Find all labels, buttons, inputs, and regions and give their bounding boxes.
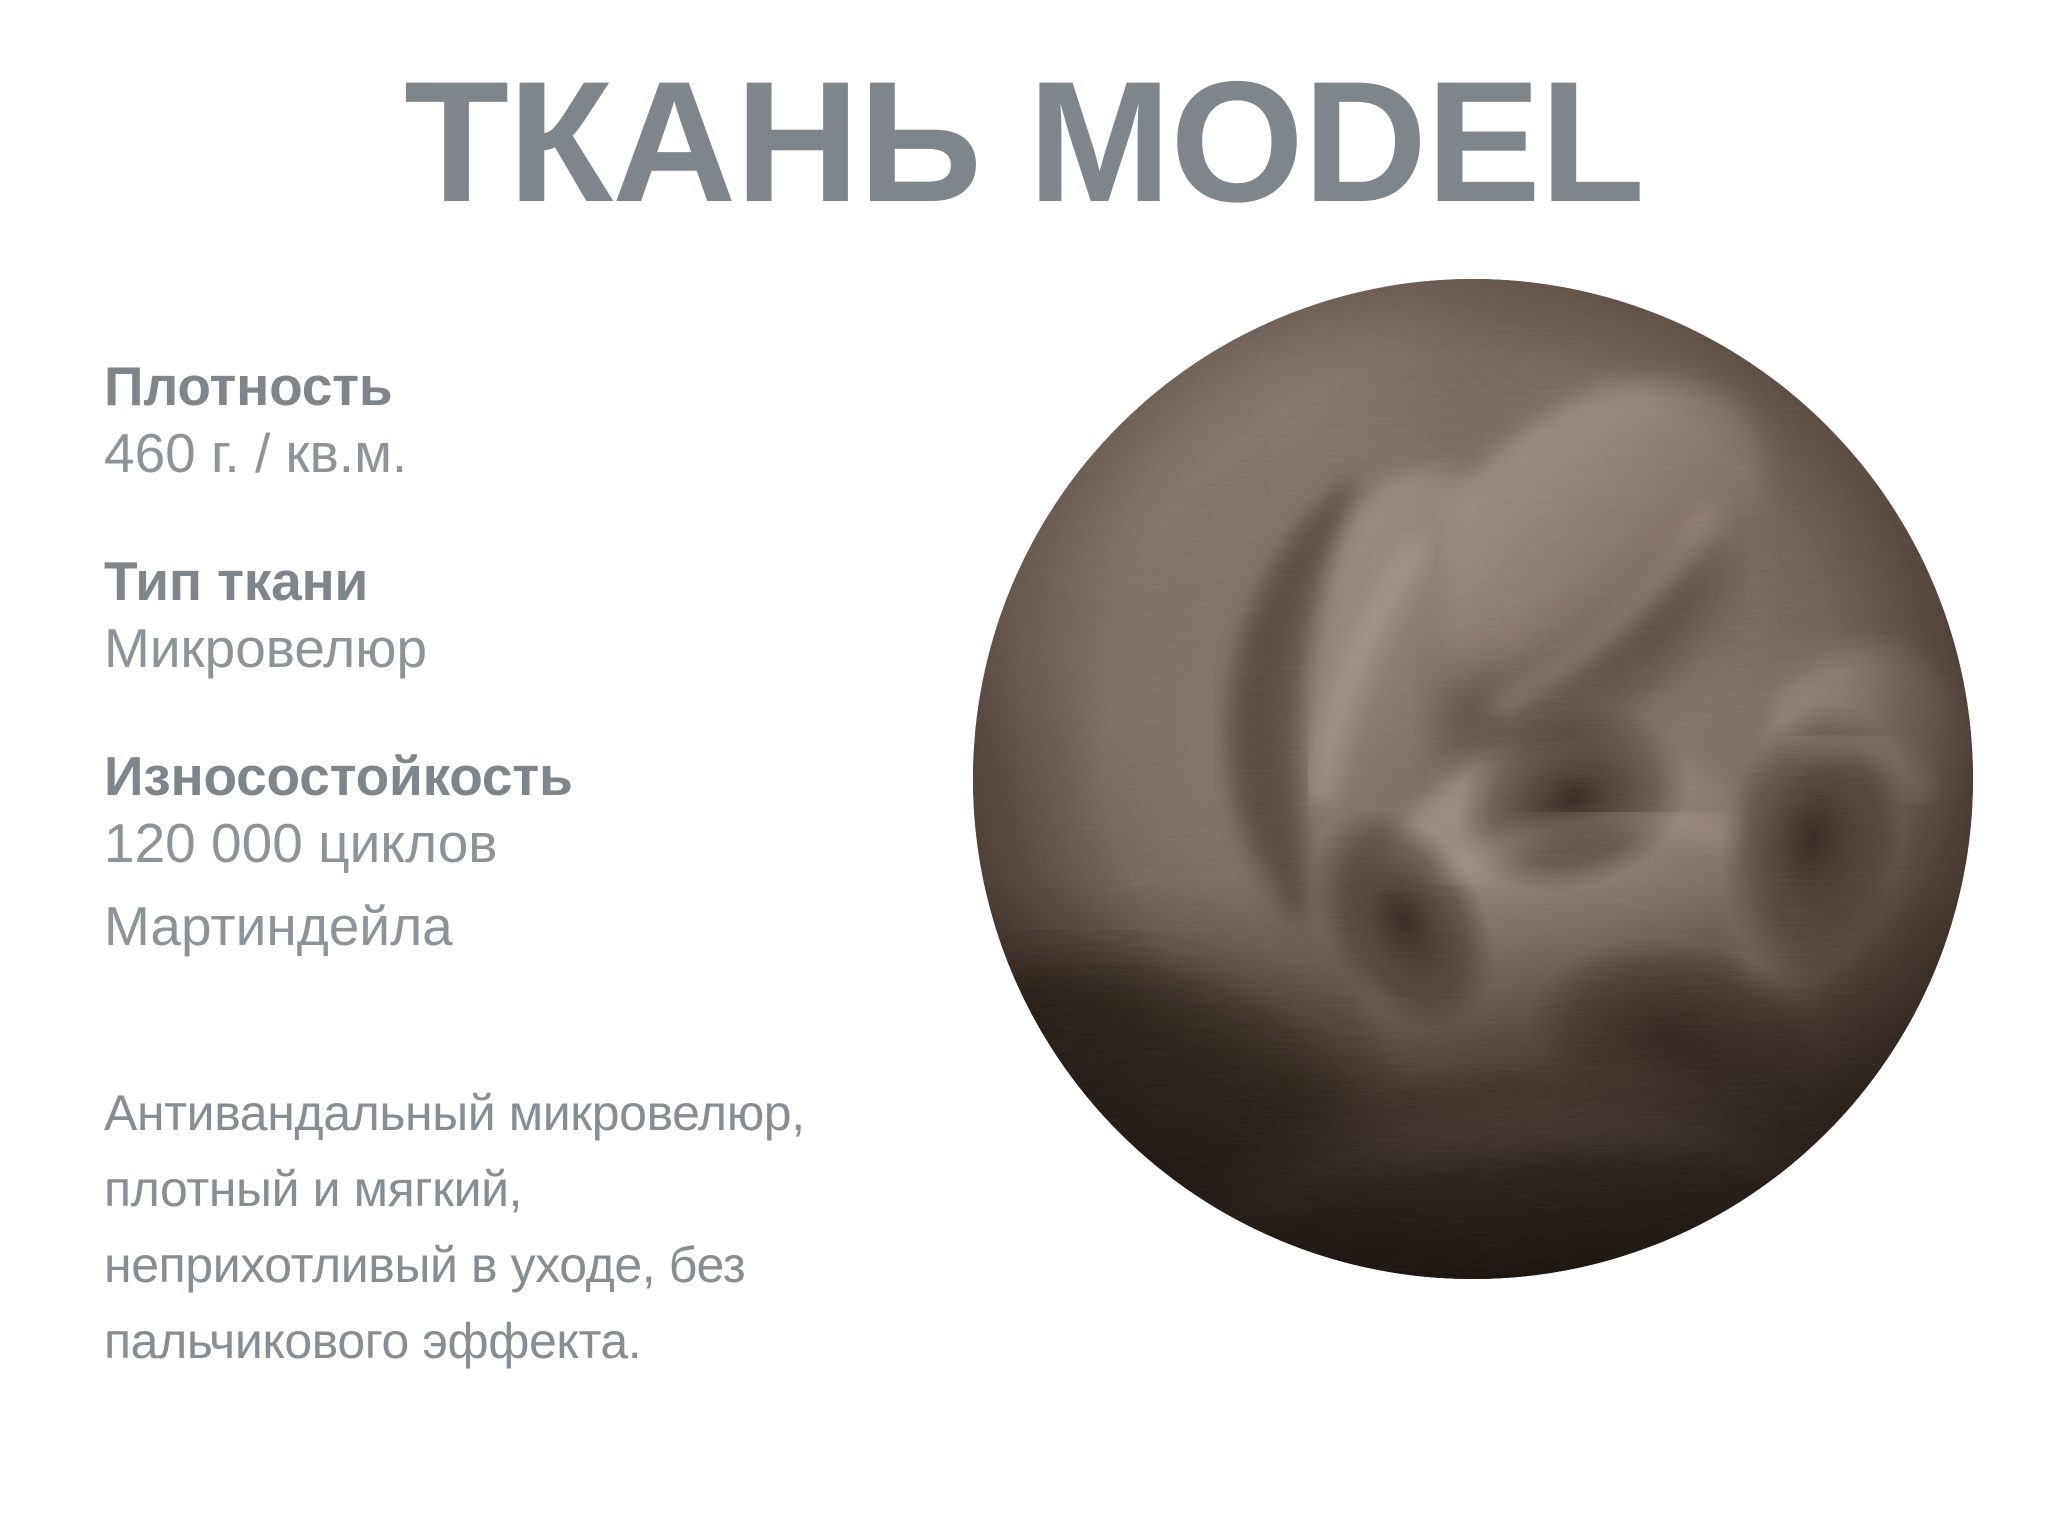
description-text: Антивандальный микровелюр, плотный и мяг… xyxy=(104,1075,1004,1379)
spec-label-wear-resistance: Износостойкость xyxy=(104,745,944,809)
description-line: неприхотливый в уходе, без xyxy=(104,1227,1004,1303)
description-line: пальчикового эффекта. xyxy=(104,1303,1004,1379)
description-line: Антивандальный микровелюр, xyxy=(104,1075,1004,1151)
spec-value-wear-resistance: 120 000 циклов Мартиндейла xyxy=(104,809,944,962)
spec-value-line: Микровелюр xyxy=(104,614,944,683)
fabric-sample-image xyxy=(973,279,1973,1279)
spec-item-density: Плотность 460 г. / кв.м. xyxy=(104,355,944,488)
specs-list: Плотность 460 г. / кв.м. Тип ткани Микро… xyxy=(104,355,944,1024)
spec-label-density: Плотность xyxy=(104,355,944,419)
spec-label-fabric-type: Тип ткани xyxy=(104,550,944,614)
spec-value-line: Мартиндейла xyxy=(104,892,944,961)
description-line: плотный и мягкий, xyxy=(104,1151,1004,1227)
spec-value-density: 460 г. / кв.м. xyxy=(104,419,944,488)
fabric-illustration xyxy=(973,279,1973,1279)
spec-item-fabric-type: Тип ткани Микровелюр xyxy=(104,550,944,683)
page-title: ТКАНЬ MODEL xyxy=(0,52,2048,233)
spec-item-wear-resistance: Износостойкость 120 000 циклов Мартиндей… xyxy=(104,745,944,961)
spec-value-fabric-type: Микровелюр xyxy=(104,614,944,683)
spec-value-line: 460 г. / кв.м. xyxy=(104,419,944,488)
spec-value-line: 120 000 циклов xyxy=(104,809,944,878)
